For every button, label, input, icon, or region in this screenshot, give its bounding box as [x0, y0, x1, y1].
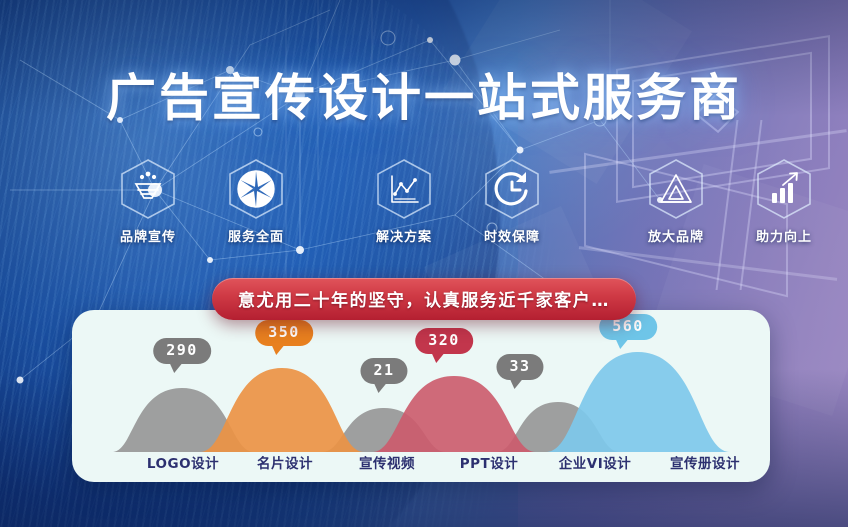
value-text: 350: [268, 323, 300, 341]
feature-label: 服务全面: [210, 226, 302, 245]
value-text: 320: [428, 331, 460, 349]
feature-item-boost-upward[interactable]: 助力向上: [738, 158, 830, 245]
value-bubble-ppt: 320: [415, 328, 473, 354]
bubble-tail-icon: [510, 378, 524, 389]
chart-x-axis-labels: LOGO设计 名片设计 宣传视频 PPT设计 企业VI设计 宣传册设计: [72, 452, 770, 474]
poster-canvas: 广告宣传设计一站式服务商 品牌宣传: [0, 0, 848, 527]
feature-label: 时效保障: [466, 226, 558, 245]
feature-label: 解决方案: [358, 226, 450, 245]
megaphone-icon: [118, 158, 178, 220]
promo-banner-text: 意尤用二十年的坚守，认真服务近千家客户…: [238, 291, 610, 311]
line-chart-icon: [374, 158, 434, 220]
clock-refresh-icon: [482, 158, 542, 220]
feature-item-brand-promotion[interactable]: 品牌宣传: [102, 158, 194, 245]
feature-item-timeliness[interactable]: 时效保障: [466, 158, 558, 245]
x-label-brochure: 宣传册设计: [630, 452, 770, 472]
feature-label: 放大品牌: [630, 226, 722, 245]
bubble-tail-icon: [615, 338, 629, 349]
promo-banner: 意尤用二十年的坚守，认真服务近千家客户…: [212, 278, 636, 320]
bubble-tail-icon: [431, 352, 445, 363]
value-bubble-vi: 33: [496, 354, 543, 380]
page-title: 广告宣传设计一站式服务商: [0, 58, 848, 130]
bubble-tail-icon: [169, 362, 183, 373]
value-text: 33: [509, 357, 530, 375]
value-bubble-logo: 290: [153, 338, 211, 364]
feature-item-amplify-brand[interactable]: 放大品牌: [630, 158, 722, 245]
feature-label: 品牌宣传: [102, 226, 194, 245]
bubble-tail-icon: [271, 344, 285, 355]
value-text: 21: [373, 361, 394, 379]
feature-label: 助力向上: [738, 226, 830, 245]
value-bubble-video: 21: [360, 358, 407, 384]
feature-item-full-service[interactable]: 服务全面: [210, 158, 302, 245]
bar-growth-icon: [754, 158, 814, 220]
stats-card: 290 350 21 320 33: [72, 310, 770, 482]
triangle-icon: [646, 158, 706, 220]
value-bubble-namecard: 350: [255, 320, 313, 346]
feature-item-solutions[interactable]: 解决方案: [358, 158, 450, 245]
bubble-tail-icon: [374, 382, 388, 393]
peak-namecard: [200, 368, 364, 452]
aperture-icon: [226, 158, 286, 220]
feature-row: 品牌宣传 服务全面: [50, 158, 808, 254]
value-text: 290: [166, 341, 198, 359]
peak-brochure: [546, 352, 730, 452]
